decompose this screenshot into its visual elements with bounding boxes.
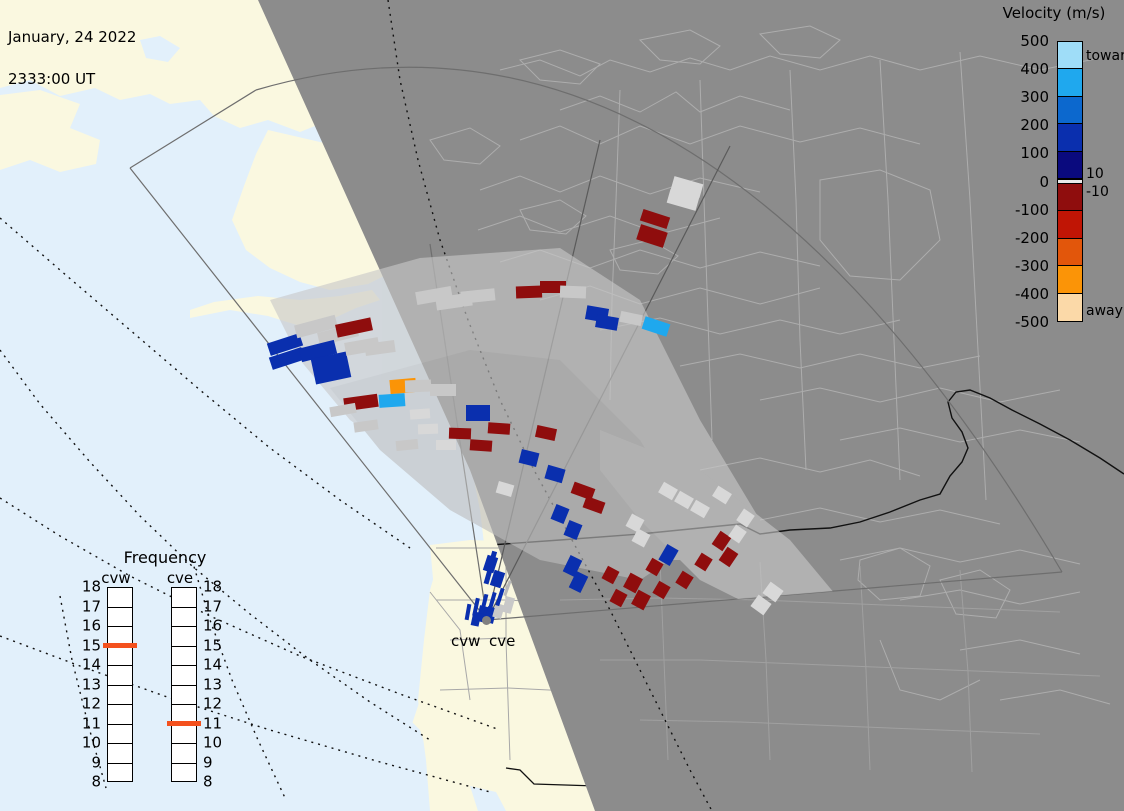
radar-cell: [516, 286, 542, 299]
colorbar-side-labels: toward10-10away: [1086, 0, 1124, 340]
colorbar-tick--200: -200: [1015, 232, 1049, 244]
colorbar-tick--300: -300: [1015, 260, 1049, 272]
radar-cell: [405, 380, 431, 393]
colorbar-tick-labels: 5004003002001000-100-200-300-400-500: [995, 0, 1053, 340]
frequency-scale-label-cvw-11: 11: [77, 718, 101, 729]
colorbar-tick--100: -100: [1015, 204, 1049, 216]
frequency-cell: [108, 686, 132, 706]
frequency-cell: [172, 627, 196, 647]
frequency-cell: [172, 686, 196, 706]
radar-cell: [379, 393, 406, 408]
colorbar-band-toward-4: [1058, 152, 1082, 179]
frequency-scale-label-cve-13: 13: [203, 679, 227, 690]
frequency-cell: [172, 647, 196, 667]
frequency-scale-label-cvw-12: 12: [77, 699, 101, 710]
frequency-cell: [108, 725, 132, 745]
radar-cell: [470, 439, 493, 452]
colorbar-negative-threshold: -10: [1086, 186, 1109, 198]
radar-cell: [430, 384, 456, 396]
frequency-scale-label-cvw-18: 18: [77, 582, 101, 593]
frequency-scale-label-cvw-8: 8: [77, 777, 101, 788]
colorbar-gradient-strip: [1057, 41, 1083, 322]
frequency-cell: [172, 608, 196, 628]
colorbar-band-away-4: [1058, 294, 1082, 321]
colorbar-positive-threshold: 10: [1086, 168, 1104, 180]
frequency-cell: [108, 744, 132, 764]
colorbar-toward-label: toward: [1086, 50, 1124, 62]
frequency-scale-label-cvw-13: 13: [77, 679, 101, 690]
colorbar-tick-500: 500: [1020, 35, 1049, 47]
colorbar-tick-400: 400: [1020, 63, 1049, 75]
colorbar-band-toward-0: [1058, 42, 1082, 69]
frequency-scale-label-cve-18: 18: [203, 582, 227, 593]
frequency-scale-label-cvw-16: 16: [77, 621, 101, 632]
radar-cell: [418, 424, 438, 435]
title-time: 2333:00 UT: [8, 72, 136, 86]
colorbar-band-away-3: [1058, 266, 1082, 293]
colorbar-band-away-0: [1058, 184, 1082, 211]
frequency-cell: [172, 764, 196, 784]
radar-cell: [449, 428, 471, 440]
colorbar-band-toward-3: [1058, 124, 1082, 151]
frequency-scale-label-cvw-17: 17: [77, 601, 101, 612]
radar-cell: [488, 422, 511, 435]
colorbar-tick--500: -500: [1015, 316, 1049, 328]
frequency-cell: [108, 608, 132, 628]
frequency-scale-label-cve-10: 10: [203, 738, 227, 749]
colorbar-band-away-1: [1058, 211, 1082, 238]
frequency-scale-label-cvw-10: 10: [77, 738, 101, 749]
title-date: January, 24 2022: [8, 30, 136, 44]
frequency-cell: [108, 764, 132, 784]
frequency-bar-cve: [171, 587, 197, 782]
frequency-scale-label-cve-11: 11: [203, 718, 227, 729]
frequency-scale-label-cve-14: 14: [203, 660, 227, 671]
colorbar-tick--400: -400: [1015, 288, 1049, 300]
frequency-scale-label-cve-15: 15: [203, 640, 227, 651]
frequency-legend-title: Frequency: [85, 548, 245, 567]
frequency-scale-label-cvw-14: 14: [77, 660, 101, 671]
frequency-cell: [172, 725, 196, 745]
frequency-scale-label-cve-9: 9: [203, 757, 227, 768]
frequency-scale-label-cvw-15: 15: [77, 640, 101, 651]
colorbar-tick-0: 0: [1039, 176, 1049, 188]
radar-map-figure: January, 24 2022 2333:00 UT Velocity (m/…: [0, 0, 1124, 811]
radar-site-label-cvw: cvw: [451, 632, 480, 650]
radar-site-label-cve: cve: [489, 632, 515, 650]
frequency-cell: [108, 647, 132, 667]
frequency-cell: [172, 588, 196, 608]
colorbar-band-toward-2: [1058, 97, 1082, 124]
frequency-marker-cvw: [103, 643, 137, 648]
frequency-marker-cve: [167, 721, 201, 726]
frequency-column-header-cve: cve: [157, 569, 203, 587]
colorbar-tick-200: 200: [1020, 119, 1049, 131]
frequency-scale-label-cve-16: 16: [203, 621, 227, 632]
frequency-cell: [108, 666, 132, 686]
radar-cell: [436, 440, 456, 450]
frequency-cell: [172, 744, 196, 764]
radar-cell: [466, 405, 490, 421]
colorbar-away-label: away: [1086, 305, 1123, 317]
frequency-scale-label-cve-17: 17: [203, 601, 227, 612]
frequency-scale-label-cve-12: 12: [203, 699, 227, 710]
frequency-scale-label-cvw-9: 9: [77, 757, 101, 768]
colorbar-band-toward-1: [1058, 69, 1082, 96]
frequency-scale-label-cve-8: 8: [203, 777, 227, 788]
frequency-cell: [172, 666, 196, 686]
frequency-bar-cvw: [107, 587, 133, 782]
colorbar-tick-300: 300: [1020, 91, 1049, 103]
radar-cell: [410, 408, 431, 419]
radar-site-marker: [482, 616, 491, 625]
frequency-cell: [108, 705, 132, 725]
colorbar-band-away-2: [1058, 239, 1082, 266]
timestamp-title: January, 24 2022 2333:00 UT: [8, 2, 136, 114]
frequency-legend: Frequency cvw18171615141312111098cve1817…: [85, 545, 245, 795]
radar-cell: [560, 286, 586, 299]
colorbar-tick-100: 100: [1020, 147, 1049, 159]
frequency-cell: [108, 588, 132, 608]
